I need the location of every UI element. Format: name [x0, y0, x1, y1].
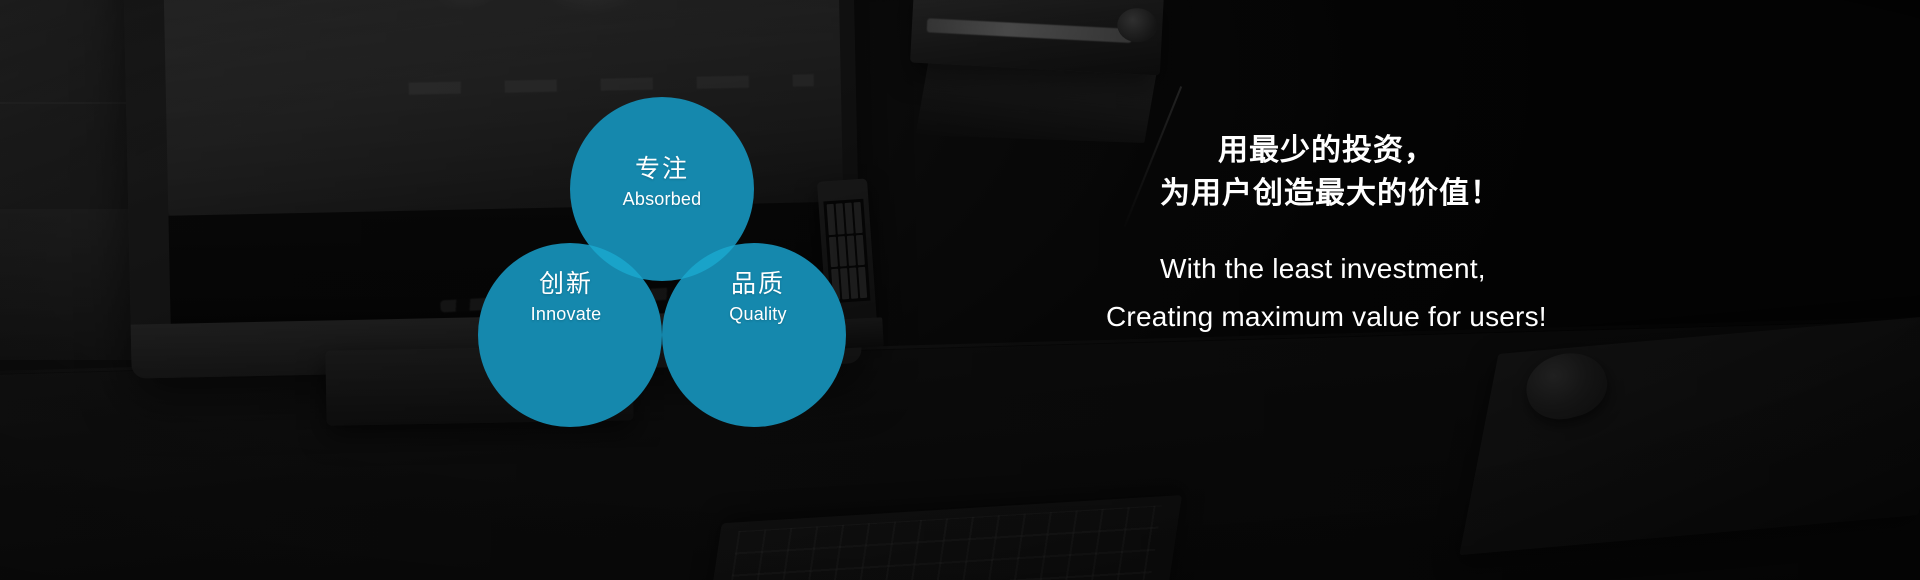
- slogan-english-line-1: With the least investment,: [1160, 245, 1860, 293]
- hero-banner: 专注 Absorbed 创新 Innovate 品质 Quality 用最少的投…: [0, 0, 1920, 580]
- venn-svg: [478, 97, 846, 427]
- slogan-english-line-2: Creating maximum value for users!: [1106, 293, 1860, 341]
- slogan-chinese-line-1: 用最少的投资，: [1160, 130, 1860, 173]
- slogan-english: With the least investment, Creating maxi…: [1160, 245, 1860, 341]
- slogan-chinese-line-2: 为用户创造最大的价值！: [1160, 173, 1860, 216]
- slogan-chinese: 用最少的投资， 为用户创造最大的价值！: [1160, 130, 1860, 215]
- values-venn-diagram: 专注 Absorbed 创新 Innovate 品质 Quality: [478, 97, 846, 427]
- slogan-block: 用最少的投资， 为用户创造最大的价值！ With the least inves…: [1160, 130, 1860, 342]
